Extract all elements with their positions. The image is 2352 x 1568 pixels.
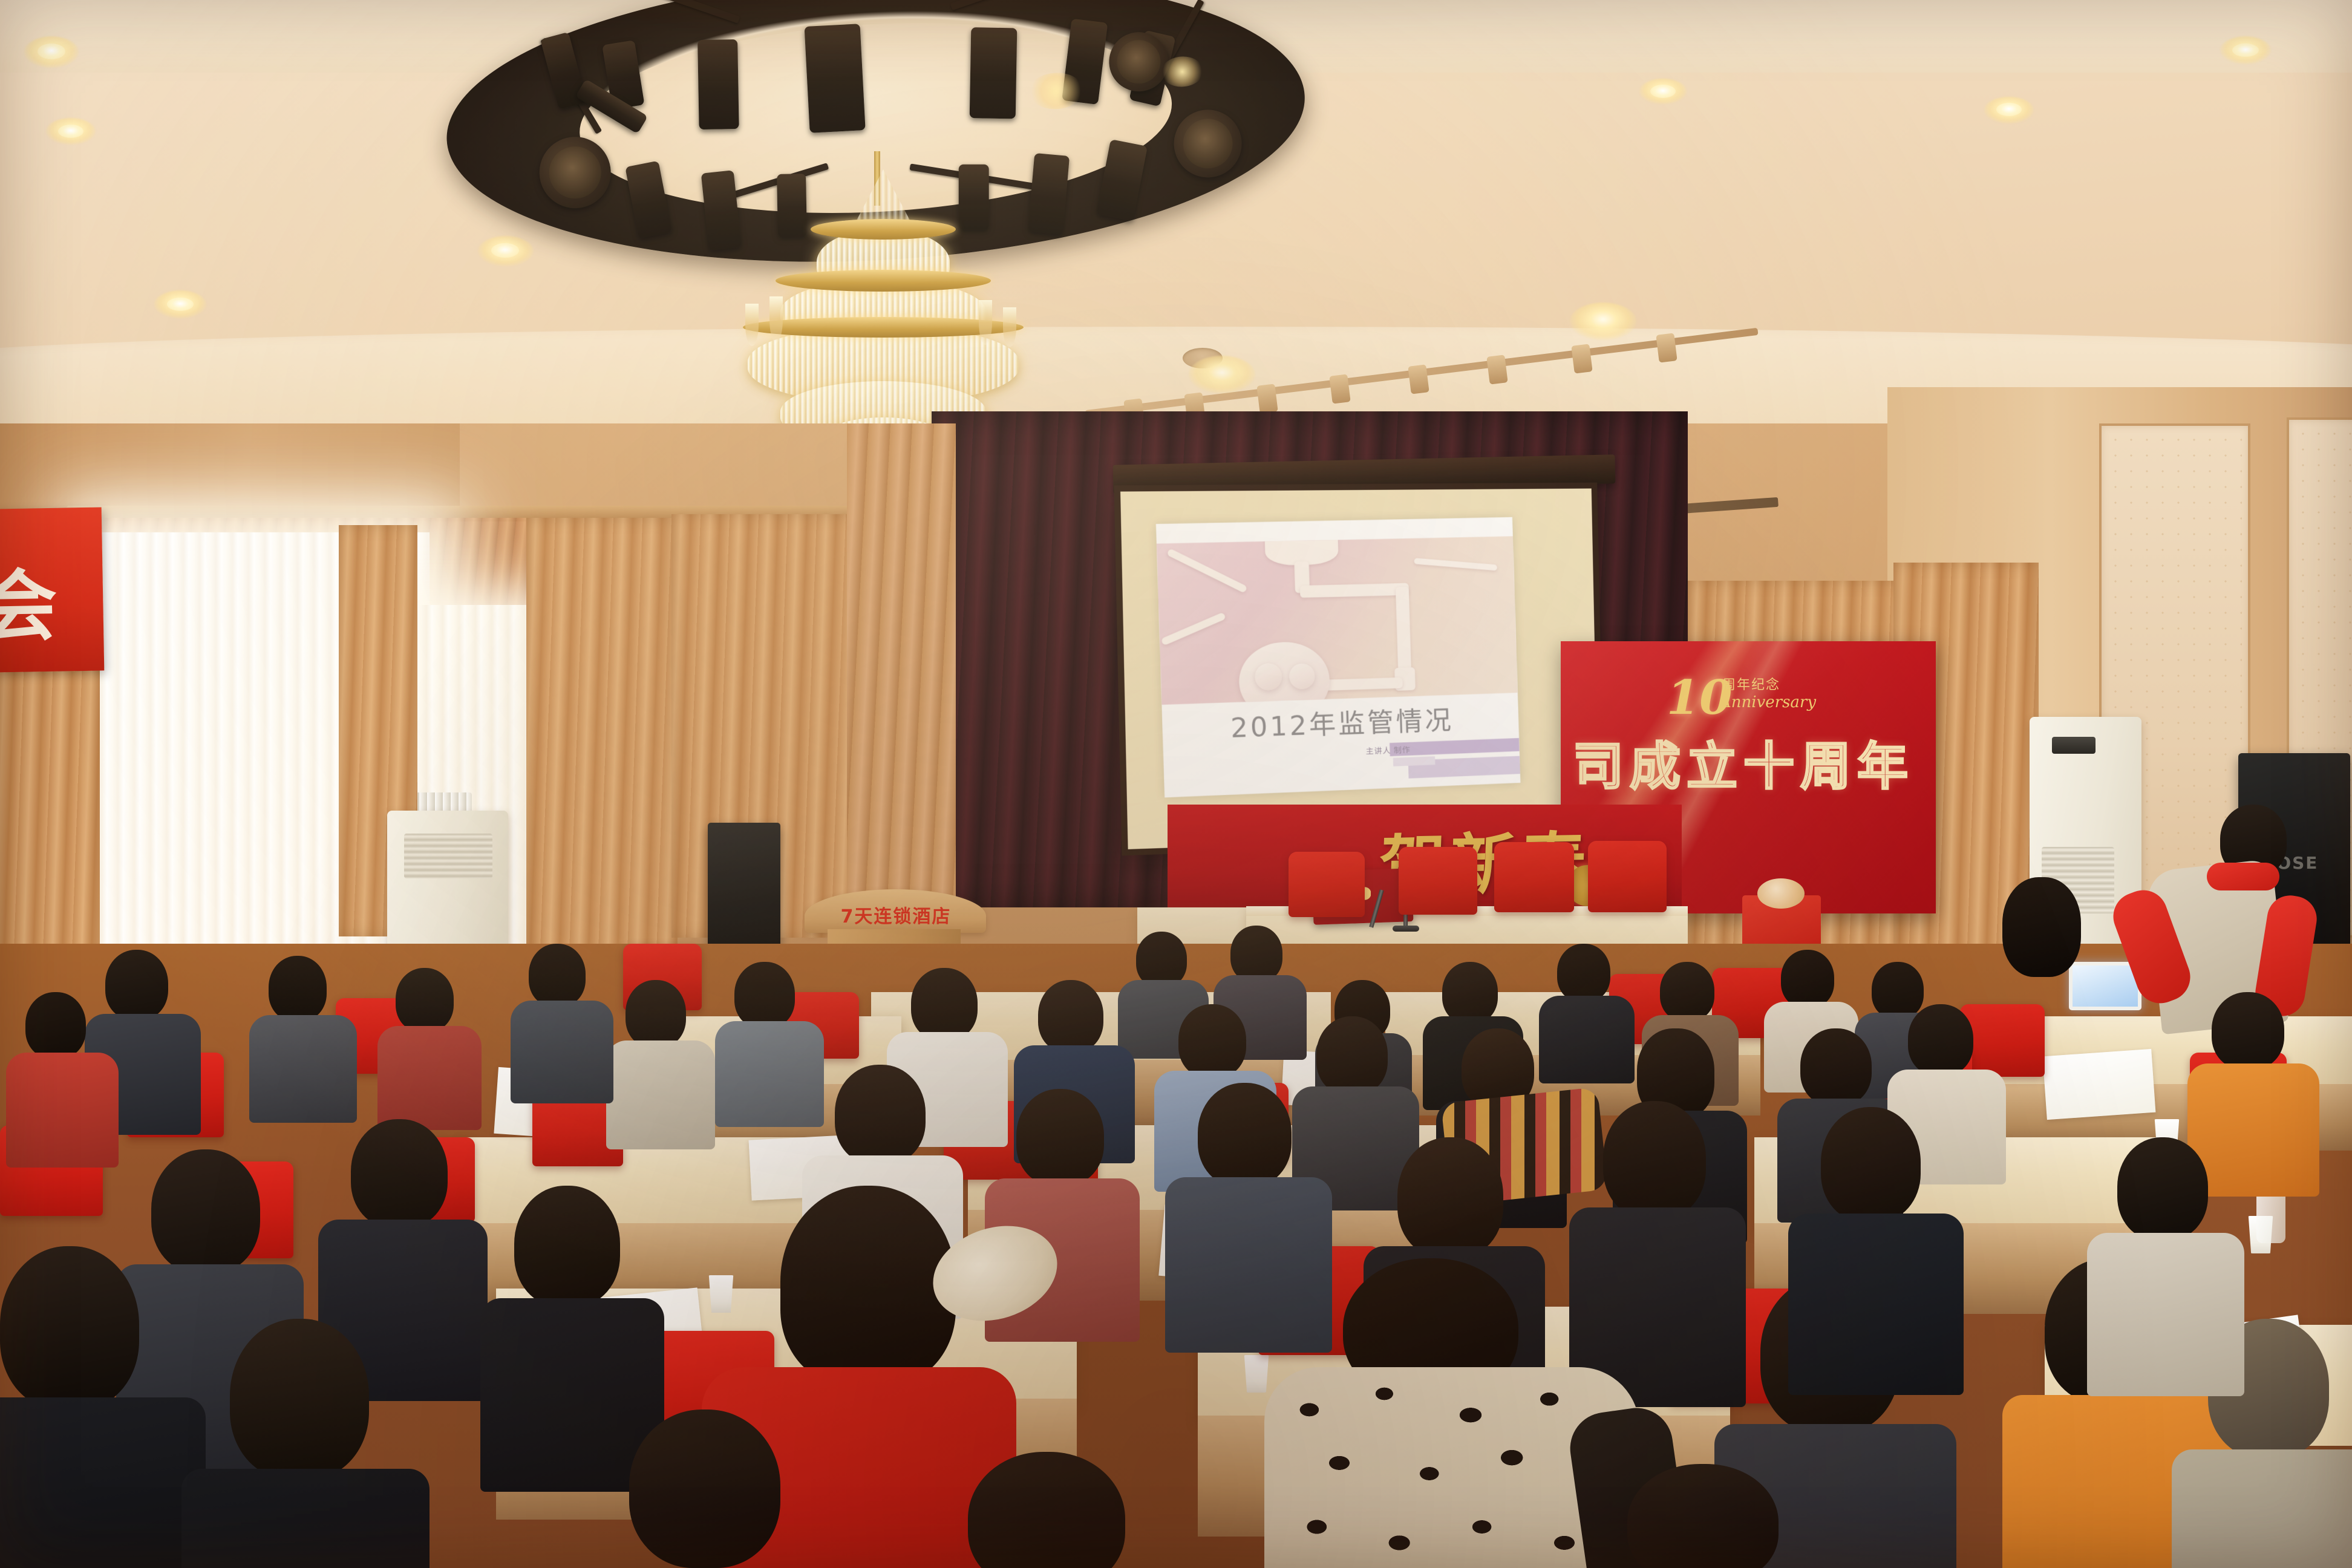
lamp-strut <box>1161 612 1226 646</box>
conference-hall-photo: 2012年监管情况 主讲人 制作 10 周年纪念 Anniversary 司成立… <box>0 0 2352 1568</box>
stage-chair <box>1399 847 1477 915</box>
person-head <box>1016 1089 1104 1186</box>
track-light-glow <box>1570 302 1636 340</box>
chandelier-swag <box>745 304 759 346</box>
slide-accent-bar-3 <box>1393 756 1436 766</box>
stage-chair <box>1588 841 1667 912</box>
stage-curtain-gold-left <box>847 423 956 907</box>
person-head <box>1872 962 1924 1019</box>
person-red-collar <box>2207 863 2279 890</box>
track-light-glow <box>1189 356 1255 393</box>
person-head <box>835 1065 926 1165</box>
person-head <box>514 1186 620 1307</box>
chandelier-gold-band <box>811 219 956 240</box>
downlight-core <box>1650 85 1676 98</box>
left-hanging-banner: 会 <box>0 507 104 672</box>
anniversary-logo: 10 周年纪念 Anniversary <box>1667 667 1872 727</box>
person-torso <box>1788 1214 1964 1395</box>
presentation-slide: 2012年监管情况 主讲人 制作 <box>1156 517 1521 798</box>
person-head <box>396 968 454 1032</box>
stage-spotlight <box>805 24 866 133</box>
person-torso <box>1165 1177 1332 1353</box>
slide-photo-surgical-lamp <box>1157 536 1518 705</box>
person-torso <box>6 1053 119 1168</box>
person-head <box>2002 877 2081 977</box>
person-torso <box>2187 1063 2319 1197</box>
person-head <box>2212 992 2284 1070</box>
microphone-base <box>1393 926 1419 932</box>
person-torso <box>606 1040 715 1149</box>
chandelier-gold-band <box>776 270 991 292</box>
person-torso <box>511 1001 613 1103</box>
person-torso <box>377 1026 482 1130</box>
person-head <box>911 968 978 1040</box>
track-light-fixture <box>1571 344 1592 373</box>
window-curtain-right <box>526 518 678 965</box>
paper-cup[interactable] <box>1243 1355 1270 1393</box>
downlight-core <box>1996 103 2022 116</box>
downlight-core <box>2232 44 2259 57</box>
person-head <box>1603 1101 1706 1219</box>
person-head <box>1316 1016 1388 1095</box>
person-head <box>1230 926 1282 982</box>
person-head <box>734 962 795 1028</box>
person-torso <box>1539 996 1635 1083</box>
anniversary-english-label: Anniversary <box>1720 693 1816 711</box>
person-head <box>1781 950 1834 1008</box>
chandelier-swag <box>979 300 992 345</box>
stage-monitor-speaker <box>708 823 780 962</box>
track-light-fixture <box>1329 374 1350 403</box>
person-head <box>25 992 86 1059</box>
person-head <box>105 950 168 1020</box>
person-head <box>230 1319 369 1479</box>
lamp-arm-horizontal <box>1300 583 1409 598</box>
podium-hotel-name: 7天连锁酒店 <box>814 901 978 928</box>
person-torso <box>0 1397 206 1568</box>
person-head <box>1800 1028 1872 1106</box>
anniversary-chinese-label: 周年纪念 <box>1722 674 1780 693</box>
lamp-arm-drop <box>1396 587 1411 678</box>
person-head <box>1908 1004 1973 1076</box>
person-head <box>1821 1107 1921 1222</box>
chandelier-swag <box>1003 307 1016 347</box>
lamp-strut <box>1414 558 1497 570</box>
ac-grill-icon <box>404 834 492 878</box>
document-sheet[interactable] <box>2043 1049 2156 1120</box>
person-head <box>1442 962 1498 1024</box>
person-torso <box>249 1015 357 1123</box>
person-head <box>1397 1137 1503 1258</box>
gift-bow-icon <box>1757 878 1805 909</box>
stage-spotlight <box>970 27 1018 119</box>
anniversary-headline: 司成立十周年 <box>1573 726 1914 799</box>
person-torso <box>715 1021 824 1127</box>
stage-chair <box>1289 852 1365 917</box>
person-torso <box>2087 1233 2244 1396</box>
person-head <box>2117 1137 2208 1240</box>
person-head <box>1178 1004 1246 1078</box>
person-head <box>1557 944 1610 1002</box>
track-light-fixture <box>1408 364 1429 394</box>
track-light-fixture <box>1486 354 1508 384</box>
chandelier-swag <box>769 296 783 342</box>
person-head <box>529 944 586 1007</box>
stage-chair <box>1494 842 1574 912</box>
attendee-laptop[interactable] <box>2069 962 2141 1018</box>
person-torso <box>2172 1449 2352 1568</box>
person-head <box>269 956 327 1021</box>
slide-subtitle: 主讲人 制作 <box>1365 743 1411 757</box>
person-head <box>151 1149 260 1273</box>
person-head <box>351 1119 448 1228</box>
paper-cup[interactable] <box>708 1275 734 1313</box>
stage-spotlight <box>697 39 739 129</box>
person-head <box>1198 1083 1292 1187</box>
person-head <box>0 1246 139 1410</box>
downlight-core <box>58 125 83 138</box>
person-head <box>780 1186 956 1385</box>
lamp-head <box>1238 641 1331 705</box>
lamp-strut <box>1166 548 1247 593</box>
person-head <box>1038 980 1103 1053</box>
track-light-fixture <box>1256 384 1278 413</box>
downlight-core <box>167 298 194 311</box>
downlight-core <box>38 44 65 59</box>
person-head <box>1660 962 1714 1021</box>
ac-display-panel[interactable] <box>2052 737 2096 754</box>
person-head <box>1136 932 1187 987</box>
person-head <box>1627 1464 1779 1568</box>
person-head <box>629 1410 780 1568</box>
track-light-fixture <box>1656 333 1677 362</box>
left-banner-character: 会 <box>0 543 58 656</box>
person-head <box>626 980 686 1048</box>
projection-screen: 2012年监管情况 主讲人 制作 <box>1114 483 1604 856</box>
person-torso <box>181 1469 430 1568</box>
